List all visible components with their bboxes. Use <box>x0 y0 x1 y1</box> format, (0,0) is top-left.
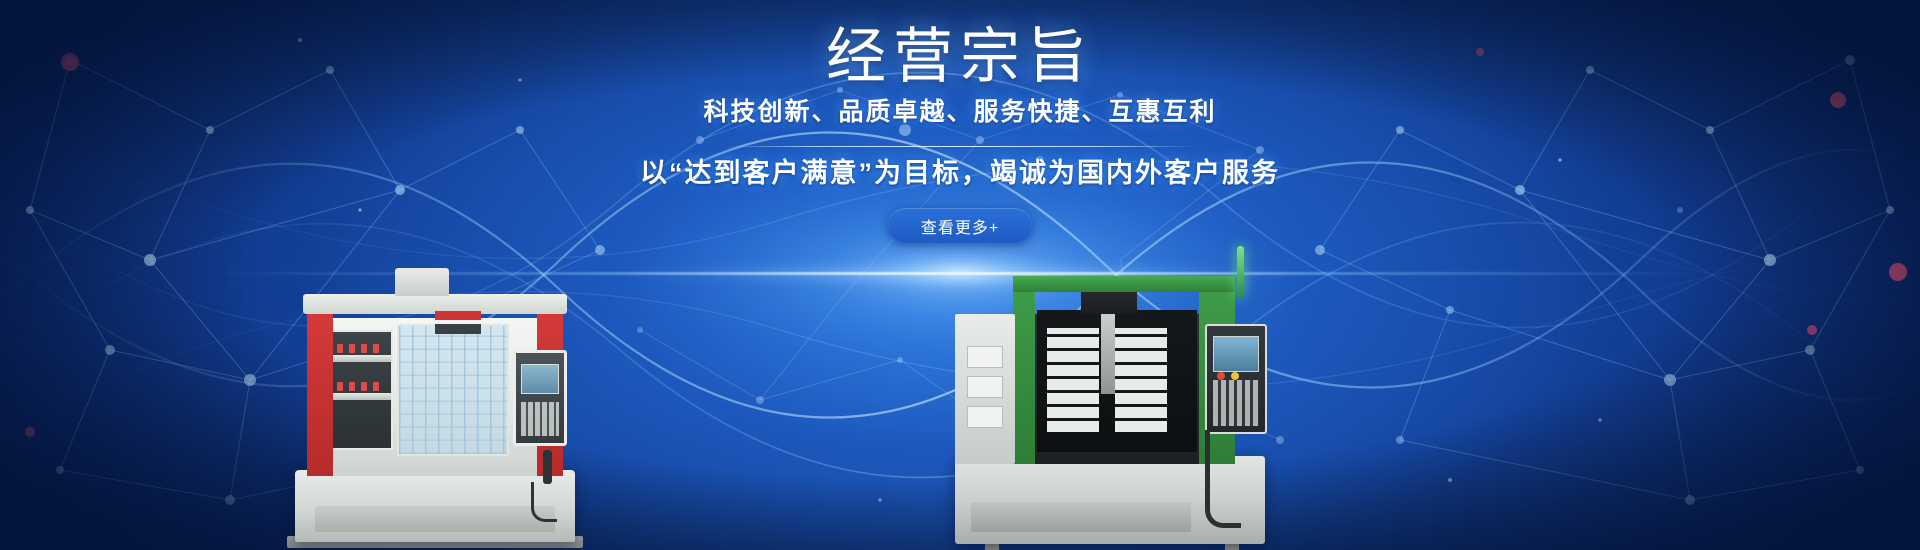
banner-subtitle: 科技创新、品质卓越、服务快捷、互惠互利 <box>703 97 1216 128</box>
hero-banner: 经营宗旨 科技创新、品质卓越、服务快捷、互惠互利 以“达到客户满意”为目标，竭诚… <box>0 0 1920 550</box>
banner-content: 经营宗旨 科技创新、品质卓越、服务快捷、互惠互利 以“达到客户满意”为目标，竭诚… <box>0 0 1920 550</box>
title-divider <box>725 146 1195 147</box>
view-more-button[interactable]: 查看更多+ <box>888 208 1032 243</box>
banner-tagline: 以“达到客户满意”为目标，竭诚为国内外客户服务 <box>640 156 1280 191</box>
banner-title: 经营宗旨 <box>826 22 1094 91</box>
